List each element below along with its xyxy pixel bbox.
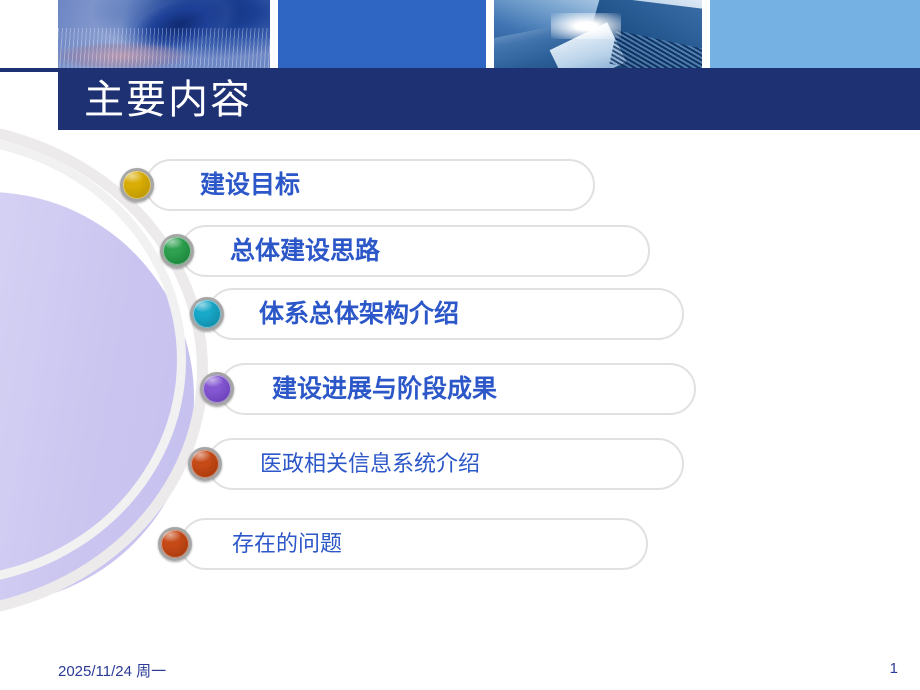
list-item-label: 建设进展与阶段成果 xyxy=(272,363,497,415)
list-item-label: 总体建设思路 xyxy=(230,225,380,277)
bullet-icon xyxy=(188,447,222,481)
list-item-label: 体系总体架构介绍 xyxy=(259,288,459,340)
footer-page-number: 1 xyxy=(890,660,898,677)
list-item-label: 建设目标 xyxy=(200,159,300,211)
list-item[interactable]: 建设进展与阶段成果 xyxy=(219,363,696,415)
list-item-label: 医政相关信息系统介绍 xyxy=(260,438,480,490)
list-item[interactable]: 总体建设思路 xyxy=(180,225,650,277)
presentation-slide: 主要内容 建设目标 总体建设思路 体系总体架构介绍 建设进展与阶段成果 医 xyxy=(0,0,920,690)
bullet-icon xyxy=(160,234,194,268)
list-item[interactable]: 医政相关信息系统介绍 xyxy=(207,438,684,490)
bullet-icon xyxy=(158,527,192,561)
list-item[interactable]: 存在的问题 xyxy=(180,518,648,570)
bullet-icon xyxy=(190,297,224,331)
bullet-icon xyxy=(120,168,154,202)
list-item[interactable]: 建设目标 xyxy=(145,159,595,211)
list-item-label: 存在的问题 xyxy=(232,518,342,570)
footer-date: 2025/11/24 周一 xyxy=(58,660,166,681)
contents-list: 建设目标 总体建设思路 体系总体架构介绍 建设进展与阶段成果 医政相关信息系统介… xyxy=(0,0,920,690)
list-item[interactable]: 体系总体架构介绍 xyxy=(207,288,684,340)
bullet-icon xyxy=(200,372,234,406)
